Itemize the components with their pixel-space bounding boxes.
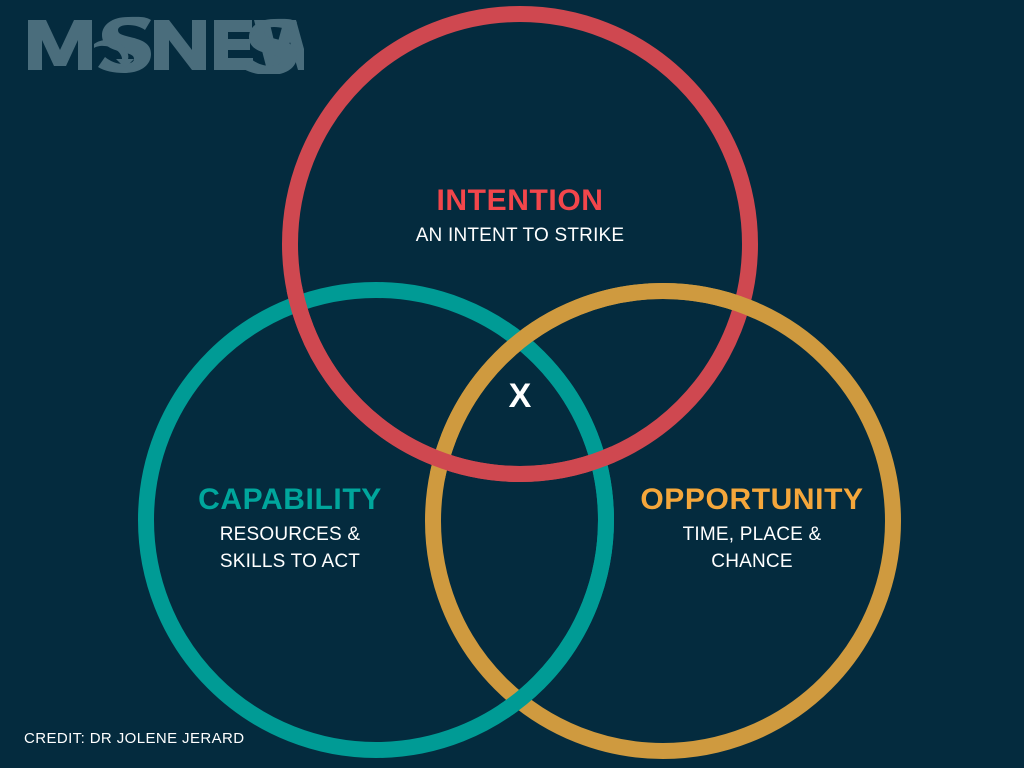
capability-subtitle-line2: SKILLS TO ACT [100, 548, 480, 576]
msnews-logo-mark [24, 16, 304, 74]
capability-subtitle-line1: RESOURCES & [100, 521, 480, 549]
label-opportunity: OPPORTUNITY TIME, PLACE & CHANCE [552, 484, 952, 576]
opportunity-subtitle-line1: TIME, PLACE & [552, 521, 952, 549]
center-intersection-marker: X [509, 379, 532, 413]
intention-subtitle: AN INTENT TO STRIKE [310, 222, 730, 250]
label-capability: CAPABILITY RESOURCES & SKILLS TO ACT [100, 484, 480, 576]
label-intention: INTENTION AN INTENT TO STRIKE [310, 185, 730, 249]
credit-line: CREDIT: DR JOLENE JERARD [24, 730, 244, 747]
intention-title: INTENTION [310, 185, 730, 217]
msnews-logo [24, 16, 304, 74]
opportunity-title: OPPORTUNITY [552, 484, 952, 516]
infographic-canvas: INTENTION AN INTENT TO STRIKE CAPABILITY… [0, 0, 1024, 768]
opportunity-subtitle-line2: CHANCE [552, 548, 952, 576]
capability-title: CAPABILITY [100, 484, 480, 516]
